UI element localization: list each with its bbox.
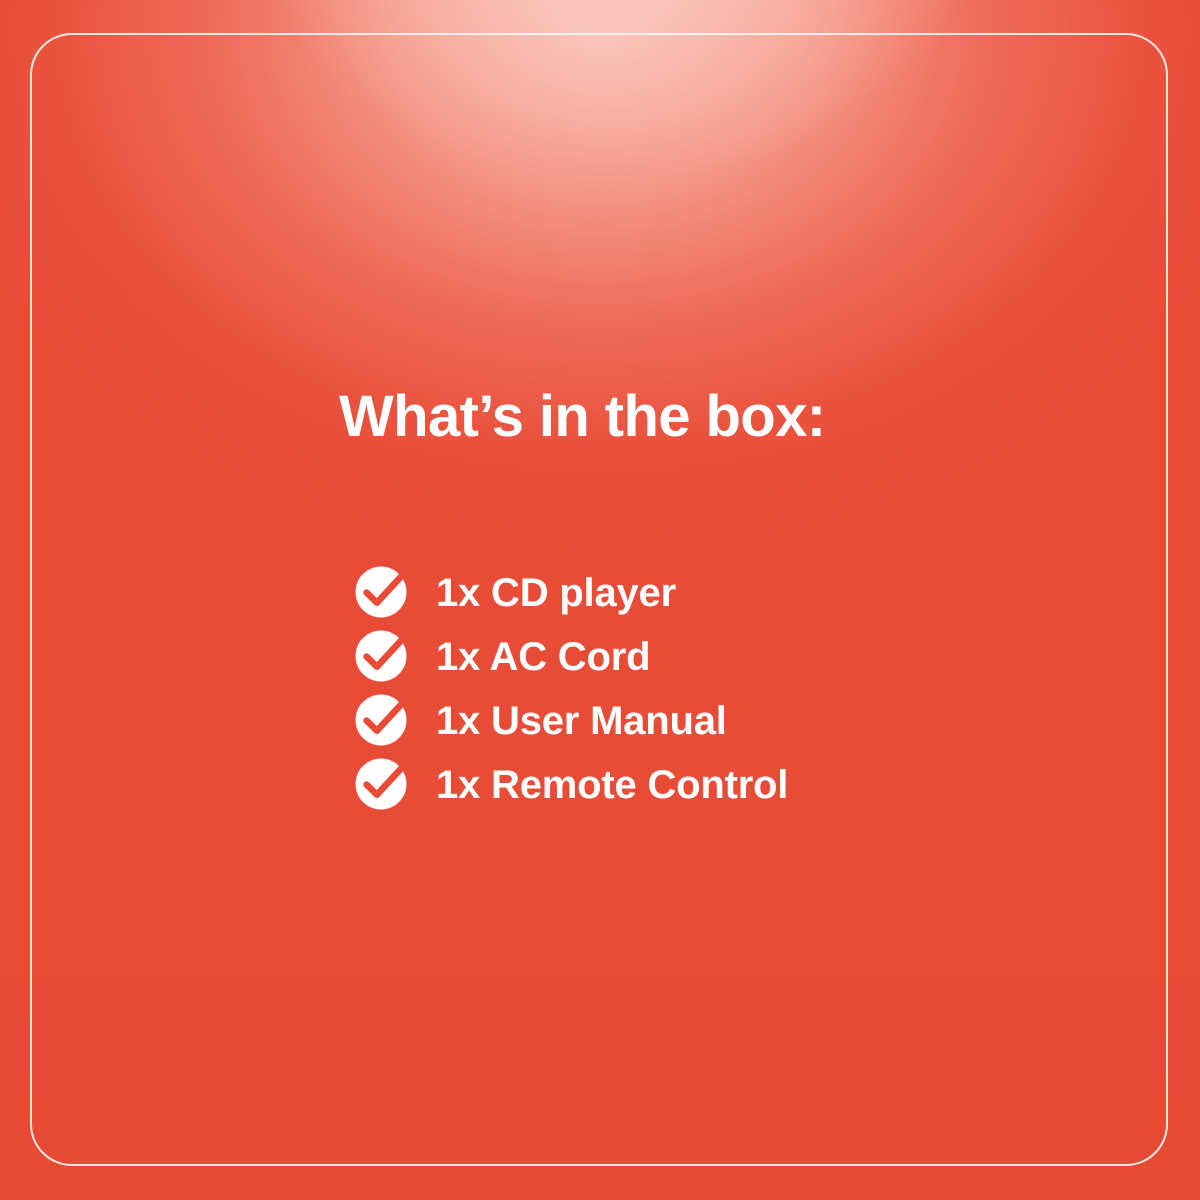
list-item: 1x CD player [353, 560, 788, 624]
check-circle-icon [353, 564, 409, 620]
list-item: 1x AC Cord [353, 624, 788, 688]
check-circle-icon [353, 692, 409, 748]
list-item-label: 1x Remote Control [436, 765, 788, 805]
list-item-label: 1x CD player [436, 573, 676, 613]
page-title: What’s in the box: [339, 388, 825, 446]
list-item-label: 1x User Manual [436, 701, 727, 741]
product-info-card: What’s in the box: 1x CD player 1x AC Co… [0, 0, 1200, 1200]
box-contents-list: 1x CD player 1x AC Cord 1x User Manual [353, 560, 788, 816]
list-item: 1x User Manual [353, 688, 788, 752]
list-item-label: 1x AC Cord [436, 637, 650, 677]
check-circle-icon [353, 756, 409, 812]
list-item: 1x Remote Control [353, 752, 788, 816]
card-content: What’s in the box: 1x CD player 1x AC Co… [339, 0, 1159, 1200]
check-circle-icon [353, 628, 409, 684]
